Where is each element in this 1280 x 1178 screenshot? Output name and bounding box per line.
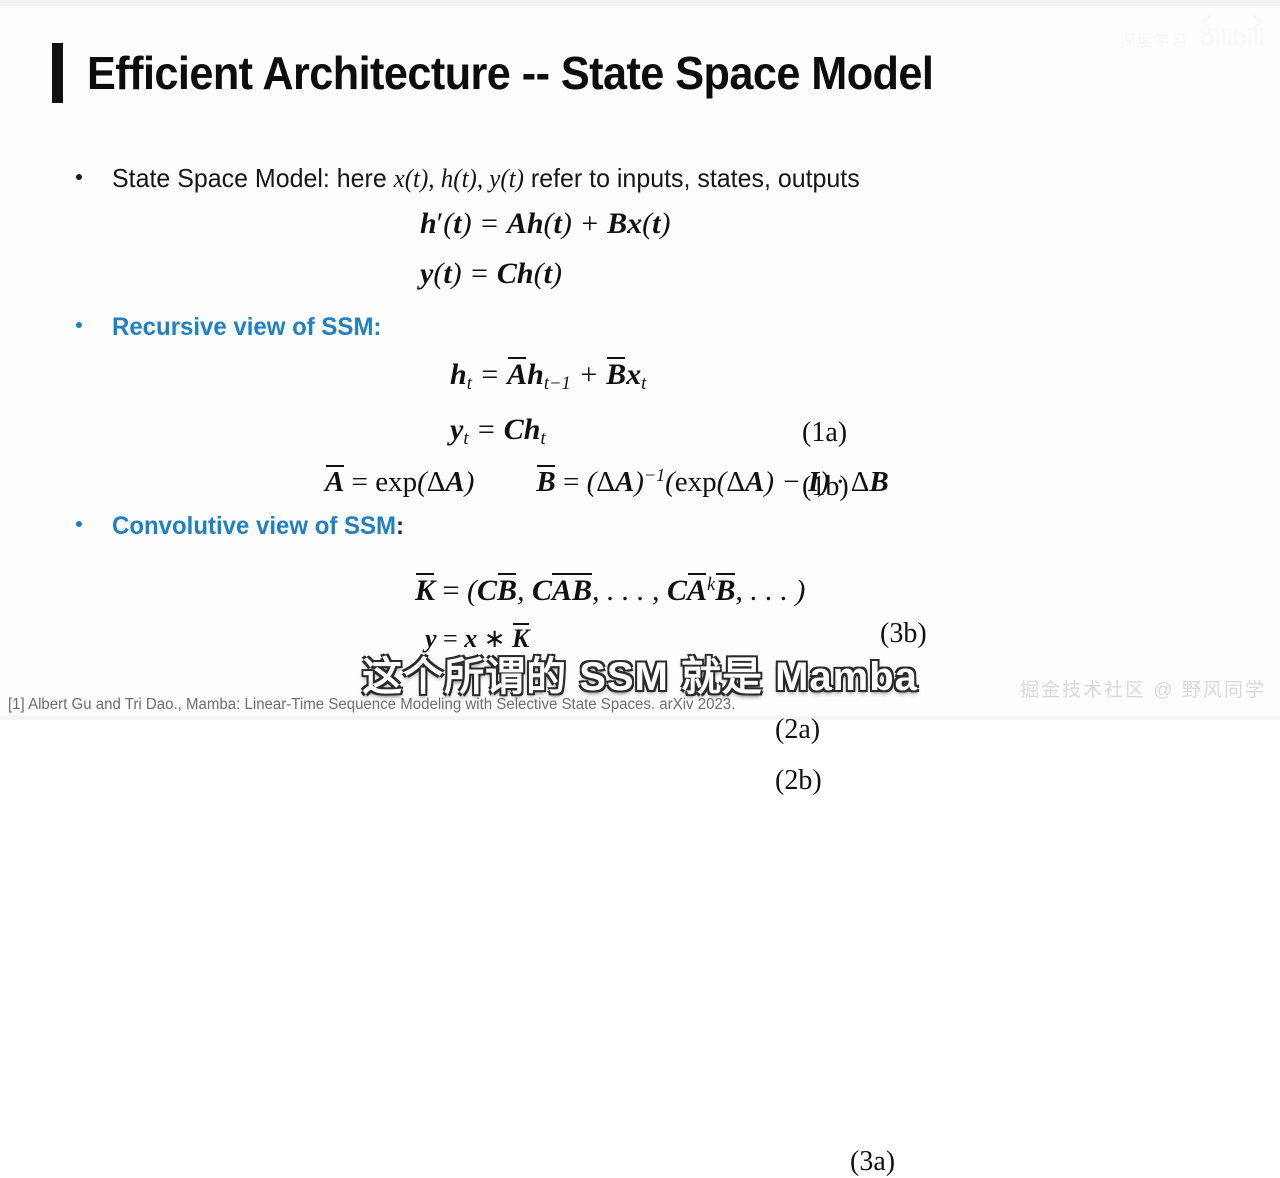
equation-3b: y = x ∗ K (3b) [425, 622, 529, 654]
watermark-uploader-name: 深度学习 [1120, 27, 1188, 51]
equation-1b-body: y(t) = Ch(t) [420, 257, 562, 291]
bullet-state-space-model: State Space Model: here x(t), h(t), y(t)… [76, 163, 891, 194]
equation-3b-body: y = x ∗ K [425, 622, 529, 654]
bullet-state-space-model-text: State Space Model: here x(t), h(t), y(t)… [112, 163, 860, 194]
footnote-reference: [1] Albert Gu and Tri Dao., Mamba: Linea… [8, 696, 735, 714]
watermark-top-right: 深度学习 bilibili [1120, 24, 1264, 53]
equation-2a-body: ht = Aht−1 + Bxt [450, 356, 646, 395]
bullet-3-colon: : [396, 512, 404, 540]
equation-3a-body: K = (CB, CAB, . . . , CAkB, . . . ) [415, 572, 805, 608]
page-title: Efficient Architecture -- State Space Mo… [87, 50, 933, 96]
equation-3a: K = (CB, CAB, . . . , CAkB, . . . ) (3a) [415, 572, 805, 608]
equation-3b-tag: (3b) [880, 618, 927, 650]
watermark-bottom-right: 掘金技术社区 @ 野风同学 [1020, 675, 1266, 702]
equation-1a-body: h′(t) = Ah(t) + Bx(t) [420, 207, 670, 241]
bullet-2-label: Recursive view of SSM [112, 313, 373, 341]
equation-group-1: h′(t) = Ah(t) + Bx(t) (1a) y(t) = Ch(t) … [420, 207, 670, 291]
equation-group-discretization: A = exp(ΔA)B = (ΔA)−1(exp(ΔA) − I) · ΔB [325, 464, 889, 499]
equation-2a: ht = Aht−1 + Bxt (2a) [450, 356, 646, 395]
bullet-recursive-view-text: Recursive view of SSM: [112, 313, 381, 342]
equation-group-3a: K = (CB, CAB, . . . , CAkB, . . . ) (3a) [415, 572, 805, 608]
equation-1a: h′(t) = Ah(t) + Bx(t) (1a) [420, 207, 670, 241]
equation-group-3b: y = x ∗ K (3b) [425, 622, 529, 654]
equation-1a-tag: (1a) [802, 417, 847, 449]
bilibili-logo-icon: bilibili [1200, 24, 1264, 53]
equation-group-2: ht = Aht−1 + Bxt (2a) yt = Cht (2b) [450, 356, 646, 450]
bullet-1-suffix: refer to inputs, states, outputs [524, 163, 860, 193]
slide-canvas: Efficient Architecture -- State Space Mo… [0, 0, 1280, 720]
slide-bottom-edge [0, 716, 1280, 720]
bullet-dot-icon [76, 322, 82, 328]
bullet-dot-icon [76, 174, 82, 180]
equation-3a-tag: (3a) [850, 1146, 895, 1178]
slide-title-row: Efficient Architecture -- State Space Mo… [52, 40, 987, 106]
slide-top-edge [0, 0, 1280, 6]
bullet-2-colon: : [373, 313, 381, 341]
bullet-recursive-view: Recursive view of SSM: [76, 313, 393, 342]
bullet-3-label: Convolutive view of SSM [112, 512, 396, 540]
bullet-1-prefix: State Space Model: here [112, 163, 394, 193]
bullet-convolutive-view-text: Convolutive view of SSM: [112, 512, 404, 541]
bullet-convolutive-view: Convolutive view of SSM: [76, 512, 416, 541]
equation-discretization-body: A = exp(ΔA)B = (ΔA)−1(exp(ΔA) − I) · ΔB [325, 466, 889, 498]
bullet-dot-icon [76, 521, 82, 527]
bullet-1-math: x(t), h(t), y(t) [394, 164, 524, 193]
title-accent-bar [52, 43, 63, 103]
equation-1b: y(t) = Ch(t) (1b) [420, 257, 670, 291]
equation-2b-body: yt = Cht [450, 413, 546, 450]
equation-2a-tag: (2a) [775, 714, 820, 746]
equation-2b: yt = Cht (2b) [450, 413, 646, 450]
equation-2b-tag: (2b) [775, 765, 822, 797]
